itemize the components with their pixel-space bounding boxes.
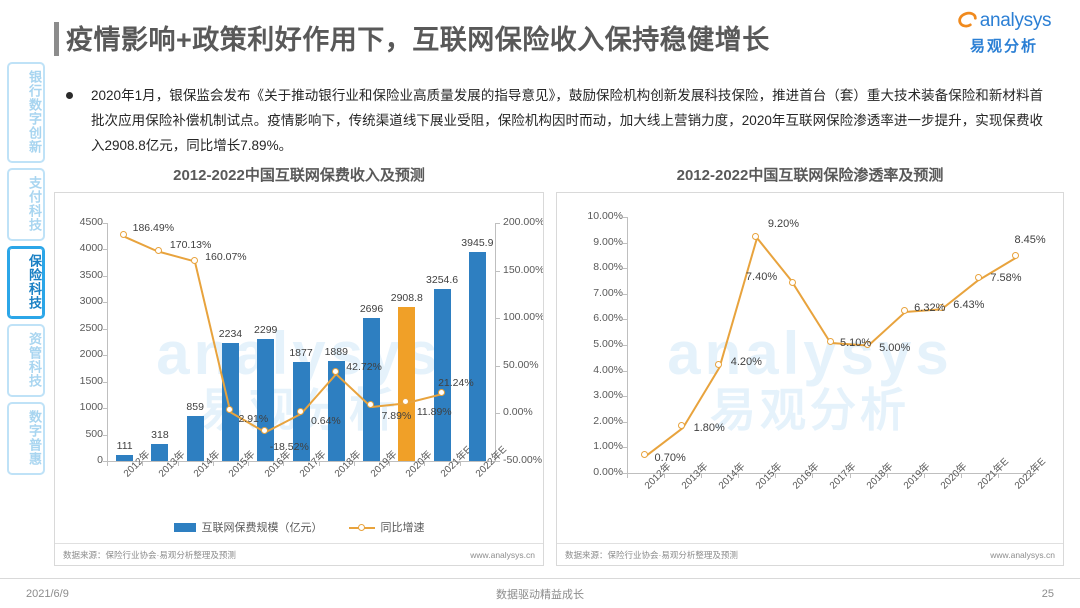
x-tick-label-2: 2014年 xyxy=(714,458,747,491)
y-tick-right xyxy=(496,366,500,367)
y-tick-label-right: 200.00% xyxy=(503,216,544,228)
y-tick-label-4: 4.00% xyxy=(565,364,623,376)
y-tick-left xyxy=(103,276,107,277)
chart-box-premium: analysys易观分析 050010001500200025003000350… xyxy=(54,192,544,566)
sidebar-item-bank[interactable]: 银行数字创新 xyxy=(7,62,45,163)
line-value-label-10: 8.45% xyxy=(1014,234,1045,246)
line-value-label-2: 4.20% xyxy=(731,356,762,368)
x-tick xyxy=(424,462,425,466)
x-tick xyxy=(701,474,702,478)
bar-value-label-2: 859 xyxy=(167,401,223,413)
chart-panel-penetration: 2012-2022中国互联网保险渗透率及预测 analysys易观分析 0.00… xyxy=(556,166,1064,566)
plot-area-premium: 050010001500200025003000350040004500-50.… xyxy=(55,193,543,565)
x-tick xyxy=(850,474,851,478)
bullet-dot-icon xyxy=(66,92,73,99)
line-value-label-3: 9.20% xyxy=(768,218,799,230)
x-tick xyxy=(887,474,888,478)
y-tick xyxy=(623,371,627,372)
y-tick-right xyxy=(496,223,500,224)
x-tick xyxy=(627,474,628,478)
line-value-label-0: 186.49% xyxy=(133,222,174,234)
y-tick-left xyxy=(103,329,107,330)
y-tick-label-5: 5.00% xyxy=(565,338,623,350)
chart-title-penetration: 2012-2022中国互联网保险渗透率及预测 xyxy=(556,166,1064,192)
x-tick xyxy=(319,462,320,466)
bar-0[interactable] xyxy=(116,455,133,461)
y-tick xyxy=(623,345,627,346)
x-tick xyxy=(107,462,108,466)
x-tick xyxy=(213,462,214,466)
line-value-label-6: 42.72% xyxy=(346,361,382,373)
plot-area-penetration: 0.00%1.00%2.00%3.00%4.00%5.00%6.00%7.00%… xyxy=(557,193,1063,565)
y-tick xyxy=(623,243,627,244)
y-tick-right xyxy=(496,271,500,272)
line-value-label-2: 160.07% xyxy=(205,251,246,263)
y-tick xyxy=(623,217,627,218)
line-value-label-9: 21.24% xyxy=(438,377,474,389)
x-tick xyxy=(664,474,665,478)
x-tick xyxy=(924,474,925,478)
x-tick-label-4: 2016年 xyxy=(788,458,821,491)
source-text-left: 数据来源：保险行业协会·易观分析整理及预测 xyxy=(63,549,236,561)
chart-title-premium: 2012-2022中国互联网保费收入及预测 xyxy=(54,166,544,192)
y-tick-left xyxy=(103,355,107,356)
y-tick-label-left: 1000 xyxy=(61,401,103,413)
y-tick-label-left: 4500 xyxy=(61,216,103,228)
y-tick-label-right: 150.00% xyxy=(503,264,544,276)
line-marker-9[interactable] xyxy=(438,389,445,396)
line-segment-1 xyxy=(682,366,721,429)
legend-swatch-line xyxy=(349,523,375,532)
line-value-label-4: 7.40% xyxy=(746,271,777,283)
bullet-text: 2020年1月，银保监会发布《关于推动银行业和保险业高质量发展的指导意见》，鼓励… xyxy=(91,83,1043,158)
y-axis xyxy=(627,217,628,474)
line-value-label-9: 7.58% xyxy=(990,272,1021,284)
bar-2[interactable] xyxy=(187,416,204,461)
x-tick xyxy=(738,474,739,478)
source-bar-right: 数据来源：保险行业协会·易观分析整理及预测 www.analysys.cn xyxy=(557,543,1063,565)
y-tick-left xyxy=(103,302,107,303)
sidebar-item-inclusive[interactable]: 数字普惠 xyxy=(7,402,45,475)
chart-legend-premium: 互联网保费规模（亿元） 同比增速 xyxy=(55,519,543,535)
y-tick-label-left: 3000 xyxy=(61,295,103,307)
source-url-left: www.analysys.cn xyxy=(470,550,535,560)
y-tick-label-right: -50.00% xyxy=(503,454,542,466)
y-tick-left xyxy=(103,249,107,250)
sidebar-item-payment[interactable]: 支付科技 xyxy=(7,168,45,241)
y-tick-left xyxy=(103,435,107,436)
y-tick-label-left: 1500 xyxy=(61,375,103,387)
line-value-label-1: 1.80% xyxy=(694,422,725,434)
y-tick-right xyxy=(496,318,500,319)
line-marker-5[interactable] xyxy=(827,338,834,345)
line-marker-4[interactable] xyxy=(261,427,268,434)
page-header: 疫情影响+政策利好作用下，互联网保险收入保持稳健增长 analysys 易观分析 xyxy=(0,0,1080,70)
y-tick xyxy=(623,447,627,448)
x-tick-label-7: 2019年 xyxy=(899,458,932,491)
line-value-label-3: 2.91% xyxy=(238,413,268,425)
footer-slogan: 数据驱动精益成长 xyxy=(0,586,1080,602)
bar-value-label-10: 3945.9 xyxy=(449,237,505,249)
line-segment-1 xyxy=(160,251,196,263)
line-value-label-4: -18.52% xyxy=(270,441,309,453)
y-tick-label-6: 6.00% xyxy=(565,312,623,324)
y-axis-left xyxy=(107,223,108,462)
bar-value-label-7: 2696 xyxy=(344,303,400,315)
line-value-label-1: 170.13% xyxy=(170,239,211,251)
line-marker-5[interactable] xyxy=(297,408,304,415)
y-tick-label-left: 0 xyxy=(61,454,103,466)
sidebar: 银行数字创新 支付科技 保险科技 资管科技 数字普惠 xyxy=(6,62,46,480)
bar-value-label-9: 3254.6 xyxy=(414,274,470,286)
y-tick-label-2: 2.00% xyxy=(565,415,623,427)
x-tick xyxy=(389,462,390,466)
source-text-right: 数据来源：保险行业协会·易观分析整理及预测 xyxy=(565,549,738,561)
y-tick-label-left: 2500 xyxy=(61,322,103,334)
y-tick-label-left: 4000 xyxy=(61,242,103,254)
line-marker-7[interactable] xyxy=(901,307,908,314)
sidebar-item-asset[interactable]: 资管科技 xyxy=(7,324,45,397)
x-tick xyxy=(354,462,355,466)
legend-item-bar[interactable]: 互联网保费规模（亿元） xyxy=(174,519,323,535)
x-tick xyxy=(283,462,284,466)
line-value-label-8: 11.89% xyxy=(417,406,452,418)
legend-swatch-bar xyxy=(174,523,196,532)
logo-chinese-name: 易观分析 xyxy=(944,35,1064,56)
page-title: 疫情影响+政策利好作用下，互联网保险收入保持稳健增长 xyxy=(66,18,770,57)
y-tick-label-9: 9.00% xyxy=(565,236,623,248)
y-axis-right xyxy=(495,223,496,462)
line-marker-6[interactable] xyxy=(332,368,339,375)
bar-value-label-1: 318 xyxy=(132,429,188,441)
y-tick-left xyxy=(103,382,107,383)
y-tick-label-7: 7.00% xyxy=(565,287,623,299)
y-tick-label-left: 2000 xyxy=(61,348,103,360)
line-segment-2 xyxy=(719,238,758,367)
logo-wordmark: analysys xyxy=(980,10,1052,32)
swirl-icon xyxy=(957,10,979,32)
line-value-label-0: 0.70% xyxy=(655,452,686,464)
sidebar-item-insurance[interactable]: 保险科技 xyxy=(7,246,45,319)
bar-value-label-6: 1889 xyxy=(308,346,364,358)
y-tick-label-1: 1.00% xyxy=(565,440,623,452)
x-tick xyxy=(961,474,962,478)
line-value-label-6: 5.00% xyxy=(879,342,910,354)
legend-label-bar: 互联网保费规模（亿元） xyxy=(202,519,323,535)
x-tick xyxy=(460,462,461,466)
y-tick-label-8: 8.00% xyxy=(565,261,623,273)
analysys-logo: analysys 易观分析 xyxy=(944,8,1064,56)
x-tick xyxy=(812,474,813,478)
bar-3[interactable] xyxy=(222,343,239,461)
line-marker-10[interactable] xyxy=(1012,252,1019,259)
x-tick xyxy=(248,462,249,466)
bar-1[interactable] xyxy=(151,444,168,461)
y-tick xyxy=(623,422,627,423)
chart-box-penetration: analysys易观分析 0.00%1.00%2.00%3.00%4.00%5.… xyxy=(556,192,1064,566)
y-tick-label-10: 10.00% xyxy=(565,210,623,222)
source-bar-left: 数据来源：保险行业协会·易观分析整理及预测 www.analysys.cn xyxy=(55,543,543,565)
y-tick-label-left: 500 xyxy=(61,428,103,440)
line-segment-4 xyxy=(793,284,832,344)
line-marker-0[interactable] xyxy=(641,451,648,458)
chart-panel-premium: 2012-2022中国互联网保费收入及预测 analysys易观分析 05001… xyxy=(54,166,544,566)
bar-8[interactable] xyxy=(398,307,415,461)
legend-item-line[interactable]: 同比增速 xyxy=(349,519,425,535)
body-bullet: 2020年1月，银保监会发布《关于推动银行业和保险业高质量发展的指导意见》，鼓励… xyxy=(66,83,1066,158)
line-value-label-5: 5.10% xyxy=(840,337,871,349)
y-tick-label-3: 3.00% xyxy=(565,389,623,401)
bar-value-label-8: 2908.8 xyxy=(379,292,435,304)
x-tick-label-3: 2015年 xyxy=(751,458,784,491)
x-tick xyxy=(178,462,179,466)
line-marker-2[interactable] xyxy=(191,257,198,264)
bar-9[interactable] xyxy=(434,289,451,461)
y-tick-label-right: 50.00% xyxy=(503,359,539,371)
x-tick-label-6: 2018年 xyxy=(862,458,895,491)
x-tick xyxy=(998,474,999,478)
bar-7[interactable] xyxy=(363,318,380,461)
y-tick-label-right: 0.00% xyxy=(503,406,533,418)
line-value-label-5: 0.64% xyxy=(311,415,341,427)
y-tick-label-right: 100.00% xyxy=(503,311,544,323)
line-value-label-7: 6.32% xyxy=(914,302,945,314)
y-tick-right xyxy=(496,413,500,414)
legend-label-line: 同比增速 xyxy=(381,519,425,535)
y-tick-label-left: 3500 xyxy=(61,269,103,281)
x-tick-label-5: 2017年 xyxy=(825,458,858,491)
footer-page-number: 25 xyxy=(1042,588,1054,600)
title-accent-bar xyxy=(54,22,59,56)
bar-value-label-0: 111 xyxy=(97,440,153,452)
line-marker-9[interactable] xyxy=(975,274,982,281)
y-tick xyxy=(623,294,627,295)
line-marker-8[interactable] xyxy=(402,398,409,405)
x-tick xyxy=(775,474,776,478)
bar-value-label-4: 2299 xyxy=(238,324,294,336)
x-tick xyxy=(142,462,143,466)
y-tick xyxy=(623,396,627,397)
bar-10[interactable] xyxy=(469,252,486,461)
line-value-label-8: 6.43% xyxy=(953,299,984,311)
y-tick xyxy=(623,319,627,320)
y-tick xyxy=(623,268,627,269)
y-tick-label-0: 0.00% xyxy=(565,466,623,478)
y-tick-left xyxy=(103,408,107,409)
source-url-right: www.analysys.cn xyxy=(990,550,1055,560)
y-tick-left xyxy=(103,223,107,224)
page-footer: 2021/6/9 数据驱动精益成长 25 xyxy=(0,578,1080,608)
x-tick-label-8: 2020年 xyxy=(936,458,969,491)
line-value-label-7: 7.89% xyxy=(382,410,412,422)
